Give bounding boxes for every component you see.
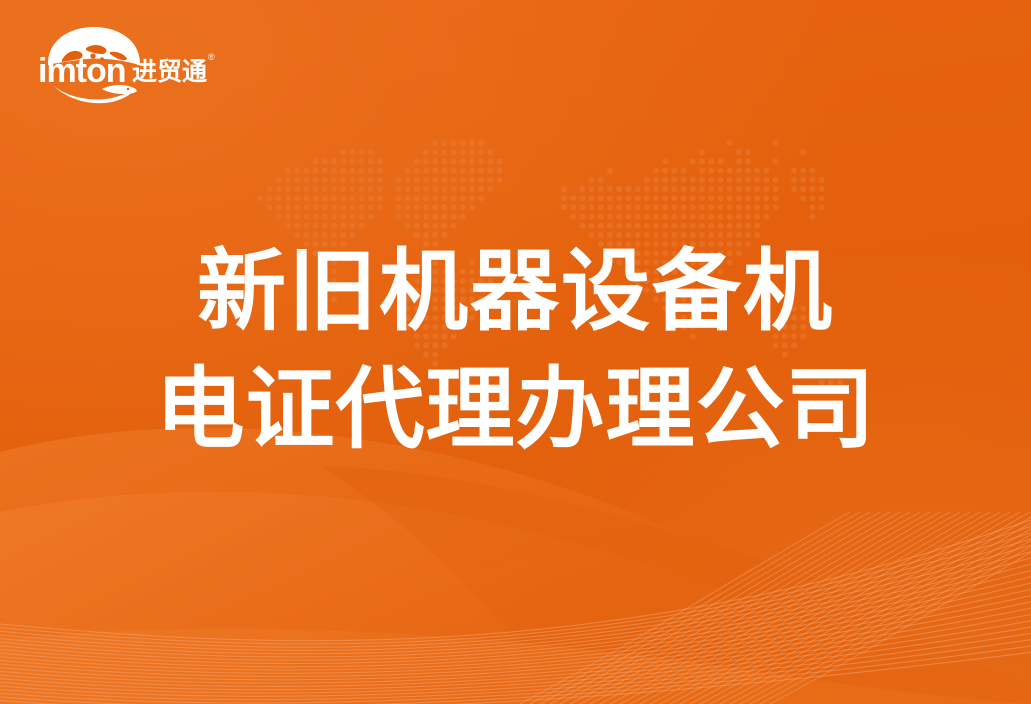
logo-wordmark: imton bbox=[38, 52, 126, 90]
headline-line-1: 新旧机器设备机 bbox=[0, 232, 1031, 350]
headline-line-2: 电证代理办理公司 bbox=[0, 350, 1031, 468]
logo-chinese-name: 进贸通 bbox=[132, 58, 207, 86]
headline-block: 新旧机器设备机 电证代理办理公司 bbox=[0, 232, 1031, 468]
promo-banner: imton 进贸通 ® 新旧机器设备机 电证代理办理公司 bbox=[0, 0, 1031, 704]
logo-trademark-symbol: ® bbox=[208, 52, 215, 62]
imton-logo[interactable]: imton 进贸通 ® bbox=[36, 24, 232, 104]
